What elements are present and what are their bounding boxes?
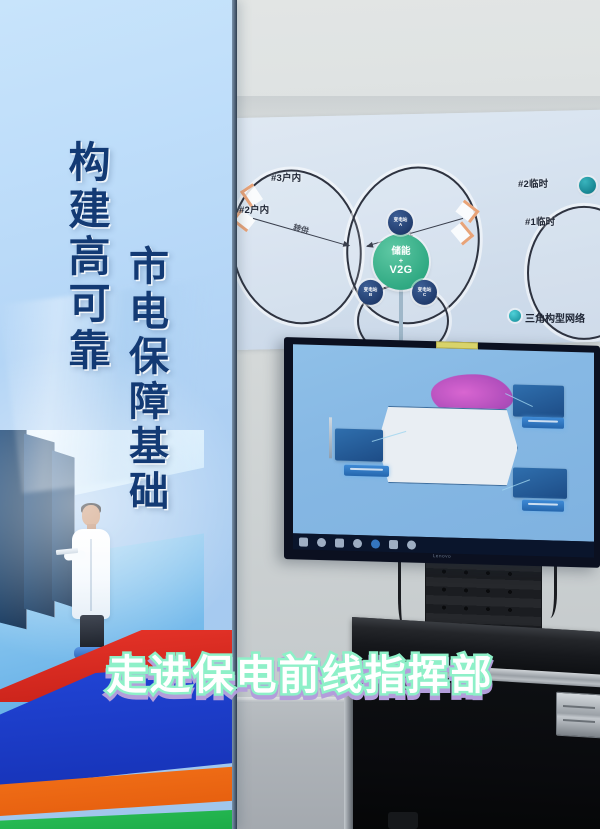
node-substation-b: 变电站 B <box>358 280 383 305</box>
node-b-line2: B <box>369 292 372 297</box>
poster-caption: 三角构型网络 <box>525 310 585 325</box>
technician-figure <box>66 505 120 657</box>
panel-headline-line-1: 构建高可靠 <box>56 140 117 375</box>
start-icon[interactable] <box>299 537 308 546</box>
node-substation-c: 变电站 C <box>412 280 437 305</box>
media-icon[interactable] <box>407 540 416 549</box>
monitor-cable-left <box>398 556 411 626</box>
node-substation-a: 变电站 A <box>388 210 413 235</box>
poster-label-loop-1-temp: #1临时 <box>525 214 555 228</box>
poster-label-loop-2-temp: #2临时 <box>518 176 548 190</box>
technician-lab-coat <box>72 529 110 619</box>
node-a-line2: A <box>399 222 402 227</box>
hub-stem <box>399 290 403 346</box>
led-wall-panel: 构建高可靠 市电保障基础 <box>0 0 237 829</box>
hub-label-line2: V2G <box>390 265 413 277</box>
screen-label-plate-left <box>344 465 389 477</box>
browser-icon[interactable] <box>371 539 380 548</box>
technician-head <box>82 505 100 526</box>
app-icon-1[interactable] <box>353 538 362 547</box>
screen-transmission-tower-icon <box>329 417 332 459</box>
task-view-icon[interactable] <box>335 538 344 547</box>
node-teal-marker <box>579 177 596 194</box>
flight-case-wheel <box>388 812 418 829</box>
monitor-cable-right <box>540 558 557 618</box>
flight-case-latch[interactable] <box>556 692 600 739</box>
panel-right-edge <box>232 0 237 829</box>
panel-headline-line-2: 市电保障基础 <box>116 245 174 515</box>
technician-legs <box>80 615 104 651</box>
network-topology-poster: #3户内 #2户内 #2临时 #1临时 转供 转供 储能 + V2G 变电站 A… <box>237 110 600 350</box>
flight-case-corner-left <box>344 672 353 829</box>
search-icon[interactable] <box>317 537 326 546</box>
wall-mounted-monitor[interactable]: Lenovo <box>284 337 600 568</box>
screenshot-frame: #3户内 #2户内 #2临时 #1临时 转供 转供 储能 + V2G 变电站 A… <box>0 0 600 829</box>
monitor-screen[interactable] <box>293 344 594 541</box>
screen-substation-left <box>335 429 383 462</box>
node-c-line2: C <box>423 292 426 297</box>
screen-label-plate-top-right <box>522 417 564 429</box>
poster-label-loop-3-indoor: #3户内 <box>271 170 301 184</box>
screen-center-hexagon <box>377 405 517 487</box>
poster-label-loop-2-indoor: #2户内 <box>239 202 269 216</box>
screen-label-plate-bottom-right <box>522 500 564 512</box>
monitor-brand-logo: Lenovo <box>433 553 451 559</box>
app-icon-2[interactable] <box>389 539 398 548</box>
caption-bullet-icon <box>509 310 521 322</box>
